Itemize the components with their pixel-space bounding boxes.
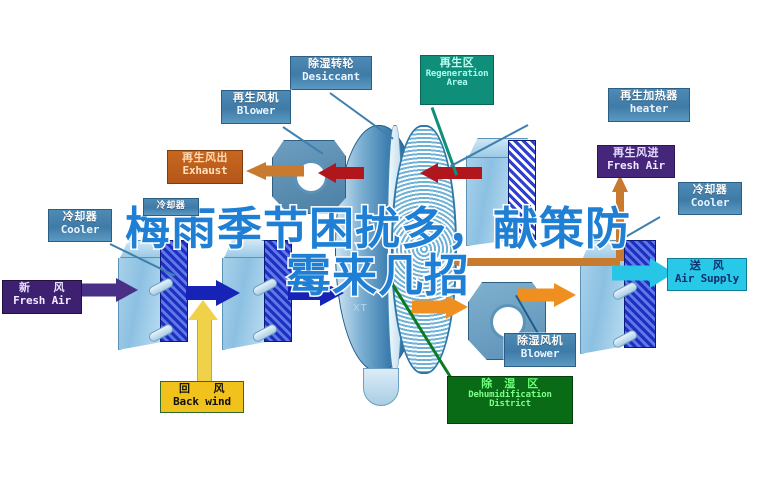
label-cooler-mid: 冷却器 [143,198,199,216]
arrow-regen-return-flow [318,164,362,182]
label-back-wind: 回 风Back wind [160,381,244,413]
label-dehum-district: 除 湿 区Dehumidification District [447,376,573,424]
diagram-canvas: XT [0,0,757,488]
label-back-wind-en: Back wind [165,396,239,408]
watermark: XT [353,303,368,314]
label-regen-blower-en: Blower [226,105,286,117]
overlay-title-line2: 霉来几招 [118,252,638,299]
arrow-exhaust-flow [246,163,302,179]
label-cooler-mid-cn: 冷却器 [148,201,194,211]
label-desiccant-en: Desiccant [295,71,367,83]
label-exhaust-en: Exhaust [172,165,238,177]
label-regen-area-en: Regeneration Area [425,70,489,89]
label-exhaust: 再生风出Exhaust [167,150,243,184]
arrow-back-wind-flow [188,300,218,382]
arrow-regen-in-flow [420,164,478,182]
label-air-supply: 送 风Air Supply [667,258,747,291]
label-regen-fresh-air-en: Fresh Air [602,160,670,172]
label-regen-heater-en: heater [613,103,685,115]
label-regen-heater: 再生加热器heater [608,88,690,122]
label-dehum-blower-en: Blower [509,348,571,360]
overlay-title: 梅雨季节困扰多，献策防 霉来几招 [118,205,638,299]
label-air-supply-en: Air Supply [672,273,742,285]
label-cooler-right-en: Cooler [683,197,737,209]
label-regen-area: 再生区Regeneration Area [420,55,494,105]
label-regen-fresh-air: 再生风进Fresh Air [597,145,675,178]
label-dehum-district-en: Dehumidification District [452,391,568,410]
label-desiccant: 除湿转轮Desiccant [290,56,372,90]
label-regen-blower: 再生风机Blower [221,90,291,124]
label-cooler-right: 冷却器Cooler [678,182,742,215]
label-fresh-air-left-en: Fresh Air [7,295,77,307]
label-dehum-blower: 除湿风机Blower [504,333,576,367]
label-cooler-left: 冷却器Cooler [48,209,112,242]
label-fresh-air-left: 新 风Fresh Air [2,280,82,314]
label-cooler-left-en: Cooler [53,224,107,236]
